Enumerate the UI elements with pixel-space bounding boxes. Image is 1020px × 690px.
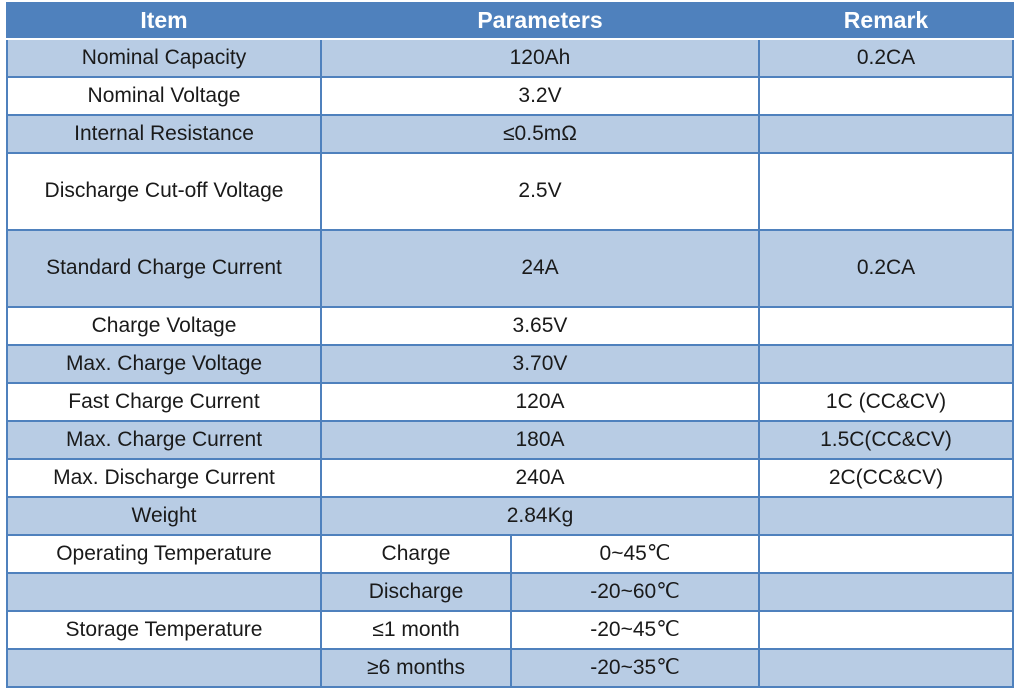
cell-parameter: 2.84Kg [321, 497, 759, 535]
table-row: Fast Charge Current120A1C (CC&CV) [7, 383, 1013, 421]
cell-item: Charge Voltage [7, 307, 321, 345]
cell-item: Internal Resistance [7, 115, 321, 153]
table-row: Weight2.84Kg [7, 497, 1013, 535]
cell-parameter: -20~60℃ [511, 573, 759, 611]
cell-parameter: 120Ah [321, 39, 759, 77]
table-header-row: Item Parameters Remark [7, 3, 1013, 39]
table-row: Standard Charge Current24A0.2CA [7, 230, 1013, 307]
cell-remark [759, 573, 1013, 611]
table-row: Storage Temperature≤1 month-20~45℃ [7, 611, 1013, 649]
cell-remark [759, 115, 1013, 153]
cell-parameter: 240A [321, 459, 759, 497]
cell-parameter: 24A [321, 230, 759, 307]
cell-item: Operating Temperature [7, 535, 321, 573]
table-row: Discharge Cut-off Voltage2.5V [7, 153, 1013, 230]
table-header: Item Parameters Remark [7, 3, 1013, 39]
cell-condition: Discharge [321, 573, 511, 611]
table-row: ≥6 months-20~35℃ [7, 649, 1013, 687]
cell-parameter: 0~45℃ [511, 535, 759, 573]
cell-parameter: ≤0.5mΩ [321, 115, 759, 153]
table-row: Nominal Voltage3.2V [7, 77, 1013, 115]
cell-item: Standard Charge Current [7, 230, 321, 307]
cell-item [7, 573, 321, 611]
table-row: Internal Resistance≤0.5mΩ [7, 115, 1013, 153]
cell-item: Max. Charge Voltage [7, 345, 321, 383]
cell-remark: 1C (CC&CV) [759, 383, 1013, 421]
cell-remark: 2C(CC&CV) [759, 459, 1013, 497]
specification-table-container: Item Parameters Remark Nominal Capacity1… [6, 2, 1012, 688]
cell-remark [759, 649, 1013, 687]
table-row: Max. Charge Current180A1.5C(CC&CV) [7, 421, 1013, 459]
cell-parameter: 120A [321, 383, 759, 421]
cell-remark [759, 153, 1013, 230]
table-row: Max. Charge Voltage3.70V [7, 345, 1013, 383]
cell-item: Discharge Cut-off Voltage [7, 153, 321, 230]
column-header-item: Item [7, 3, 321, 39]
column-header-remark: Remark [759, 3, 1013, 39]
table-body: Nominal Capacity120Ah0.2CANominal Voltag… [7, 39, 1013, 687]
cell-remark: 0.2CA [759, 230, 1013, 307]
cell-remark [759, 307, 1013, 345]
cell-item: Max. Discharge Current [7, 459, 321, 497]
cell-parameter: -20~35℃ [511, 649, 759, 687]
cell-item: Fast Charge Current [7, 383, 321, 421]
cell-condition: ≤1 month [321, 611, 511, 649]
cell-parameter: -20~45℃ [511, 611, 759, 649]
cell-condition: Charge [321, 535, 511, 573]
cell-remark [759, 345, 1013, 383]
cell-remark [759, 77, 1013, 115]
cell-item: Storage Temperature [7, 611, 321, 649]
cell-item: Weight [7, 497, 321, 535]
cell-item: Nominal Voltage [7, 77, 321, 115]
cell-item [7, 649, 321, 687]
table-row: Max. Discharge Current240A2C(CC&CV) [7, 459, 1013, 497]
specification-table: Item Parameters Remark Nominal Capacity1… [6, 2, 1014, 688]
cell-item: Nominal Capacity [7, 39, 321, 77]
table-row: Discharge-20~60℃ [7, 573, 1013, 611]
table-row: Charge Voltage3.65V [7, 307, 1013, 345]
cell-remark: 1.5C(CC&CV) [759, 421, 1013, 459]
cell-parameter: 3.65V [321, 307, 759, 345]
cell-remark: 0.2CA [759, 39, 1013, 77]
cell-remark [759, 535, 1013, 573]
table-row: Nominal Capacity120Ah0.2CA [7, 39, 1013, 77]
cell-parameter: 180A [321, 421, 759, 459]
cell-remark [759, 611, 1013, 649]
cell-parameter: 3.2V [321, 77, 759, 115]
cell-parameter: 3.70V [321, 345, 759, 383]
cell-item: Max. Charge Current [7, 421, 321, 459]
column-header-parameters: Parameters [321, 3, 759, 39]
table-row: Operating TemperatureCharge0~45℃ [7, 535, 1013, 573]
cell-condition: ≥6 months [321, 649, 511, 687]
cell-remark [759, 497, 1013, 535]
cell-parameter: 2.5V [321, 153, 759, 230]
